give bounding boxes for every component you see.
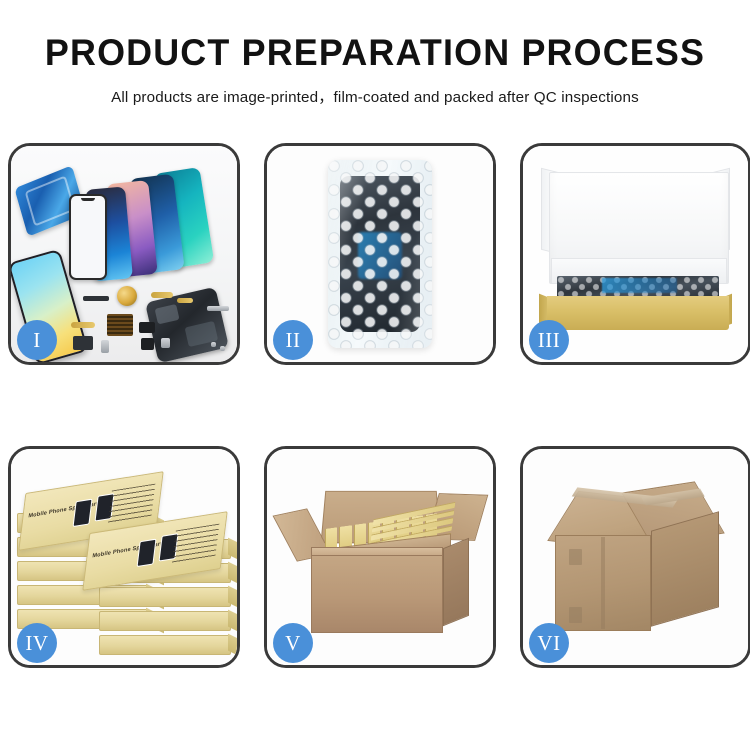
bubble-wrapped-package	[328, 160, 432, 348]
step-badge-vi: VI	[529, 623, 569, 663]
box-spec-lines	[172, 524, 220, 564]
carton-tab	[569, 607, 582, 623]
step-panel-vi: VI	[520, 446, 750, 668]
camera-module-part	[73, 336, 93, 350]
page-title: PRODUCT PREPARATION PROCESS	[11, 34, 739, 73]
step-panel-ii: II	[264, 143, 496, 365]
plastic-sheen	[328, 160, 432, 348]
step-panel-i: I	[8, 143, 240, 365]
kraft-tray-base	[547, 296, 729, 330]
retail-box-edge	[99, 587, 231, 607]
step-badge-i: I	[17, 320, 57, 360]
flex-cable-part	[177, 298, 193, 303]
step-badge-iv: IV	[17, 623, 57, 663]
box-spec-lines	[108, 484, 156, 524]
carton-tab	[569, 549, 582, 565]
phone-thumbnail-icon	[137, 539, 157, 567]
earpiece-mesh-part	[83, 296, 109, 301]
retail-box-edge	[99, 635, 231, 655]
flex-cable-part	[151, 292, 173, 298]
carton-front-panel	[311, 555, 443, 633]
step-badge-v: V	[273, 623, 313, 663]
carton-side-panel	[443, 538, 469, 627]
screw-part	[220, 346, 225, 351]
metal-bracket-part	[101, 340, 109, 353]
step-panel-iii: III	[520, 143, 750, 365]
notch-icon	[81, 198, 95, 201]
phone-thumbnail-icon	[73, 499, 93, 527]
header: PRODUCT PREPARATION PROCESS All products…	[0, 0, 750, 107]
process-steps-grid: I II	[8, 143, 745, 678]
page-subtitle: All products are image-printed，film-coat…	[0, 85, 750, 107]
tweezers-part	[207, 306, 229, 311]
ic-chip-part	[139, 322, 155, 333]
carton-side-face	[651, 511, 719, 626]
ic-chip-part	[141, 338, 154, 350]
step-badge-iii: III	[529, 320, 569, 360]
copper-coil-part	[117, 286, 137, 306]
metal-bracket-part	[161, 338, 170, 348]
step-panel-v: V	[264, 446, 496, 668]
flex-cable-part	[71, 322, 95, 328]
product-preparation-infographic: PRODUCT PREPARATION PROCESS All products…	[0, 0, 750, 750]
step-panel-iv: Mobile Phone Spare Parts Mobile Phone Sp…	[8, 446, 240, 668]
connector-grid-part	[107, 314, 133, 336]
step-badge-ii: II	[273, 320, 313, 360]
screw-part	[211, 342, 216, 347]
carton-seam	[601, 537, 605, 629]
screen-glass-panel	[69, 194, 107, 280]
retail-box-edge	[99, 611, 231, 631]
